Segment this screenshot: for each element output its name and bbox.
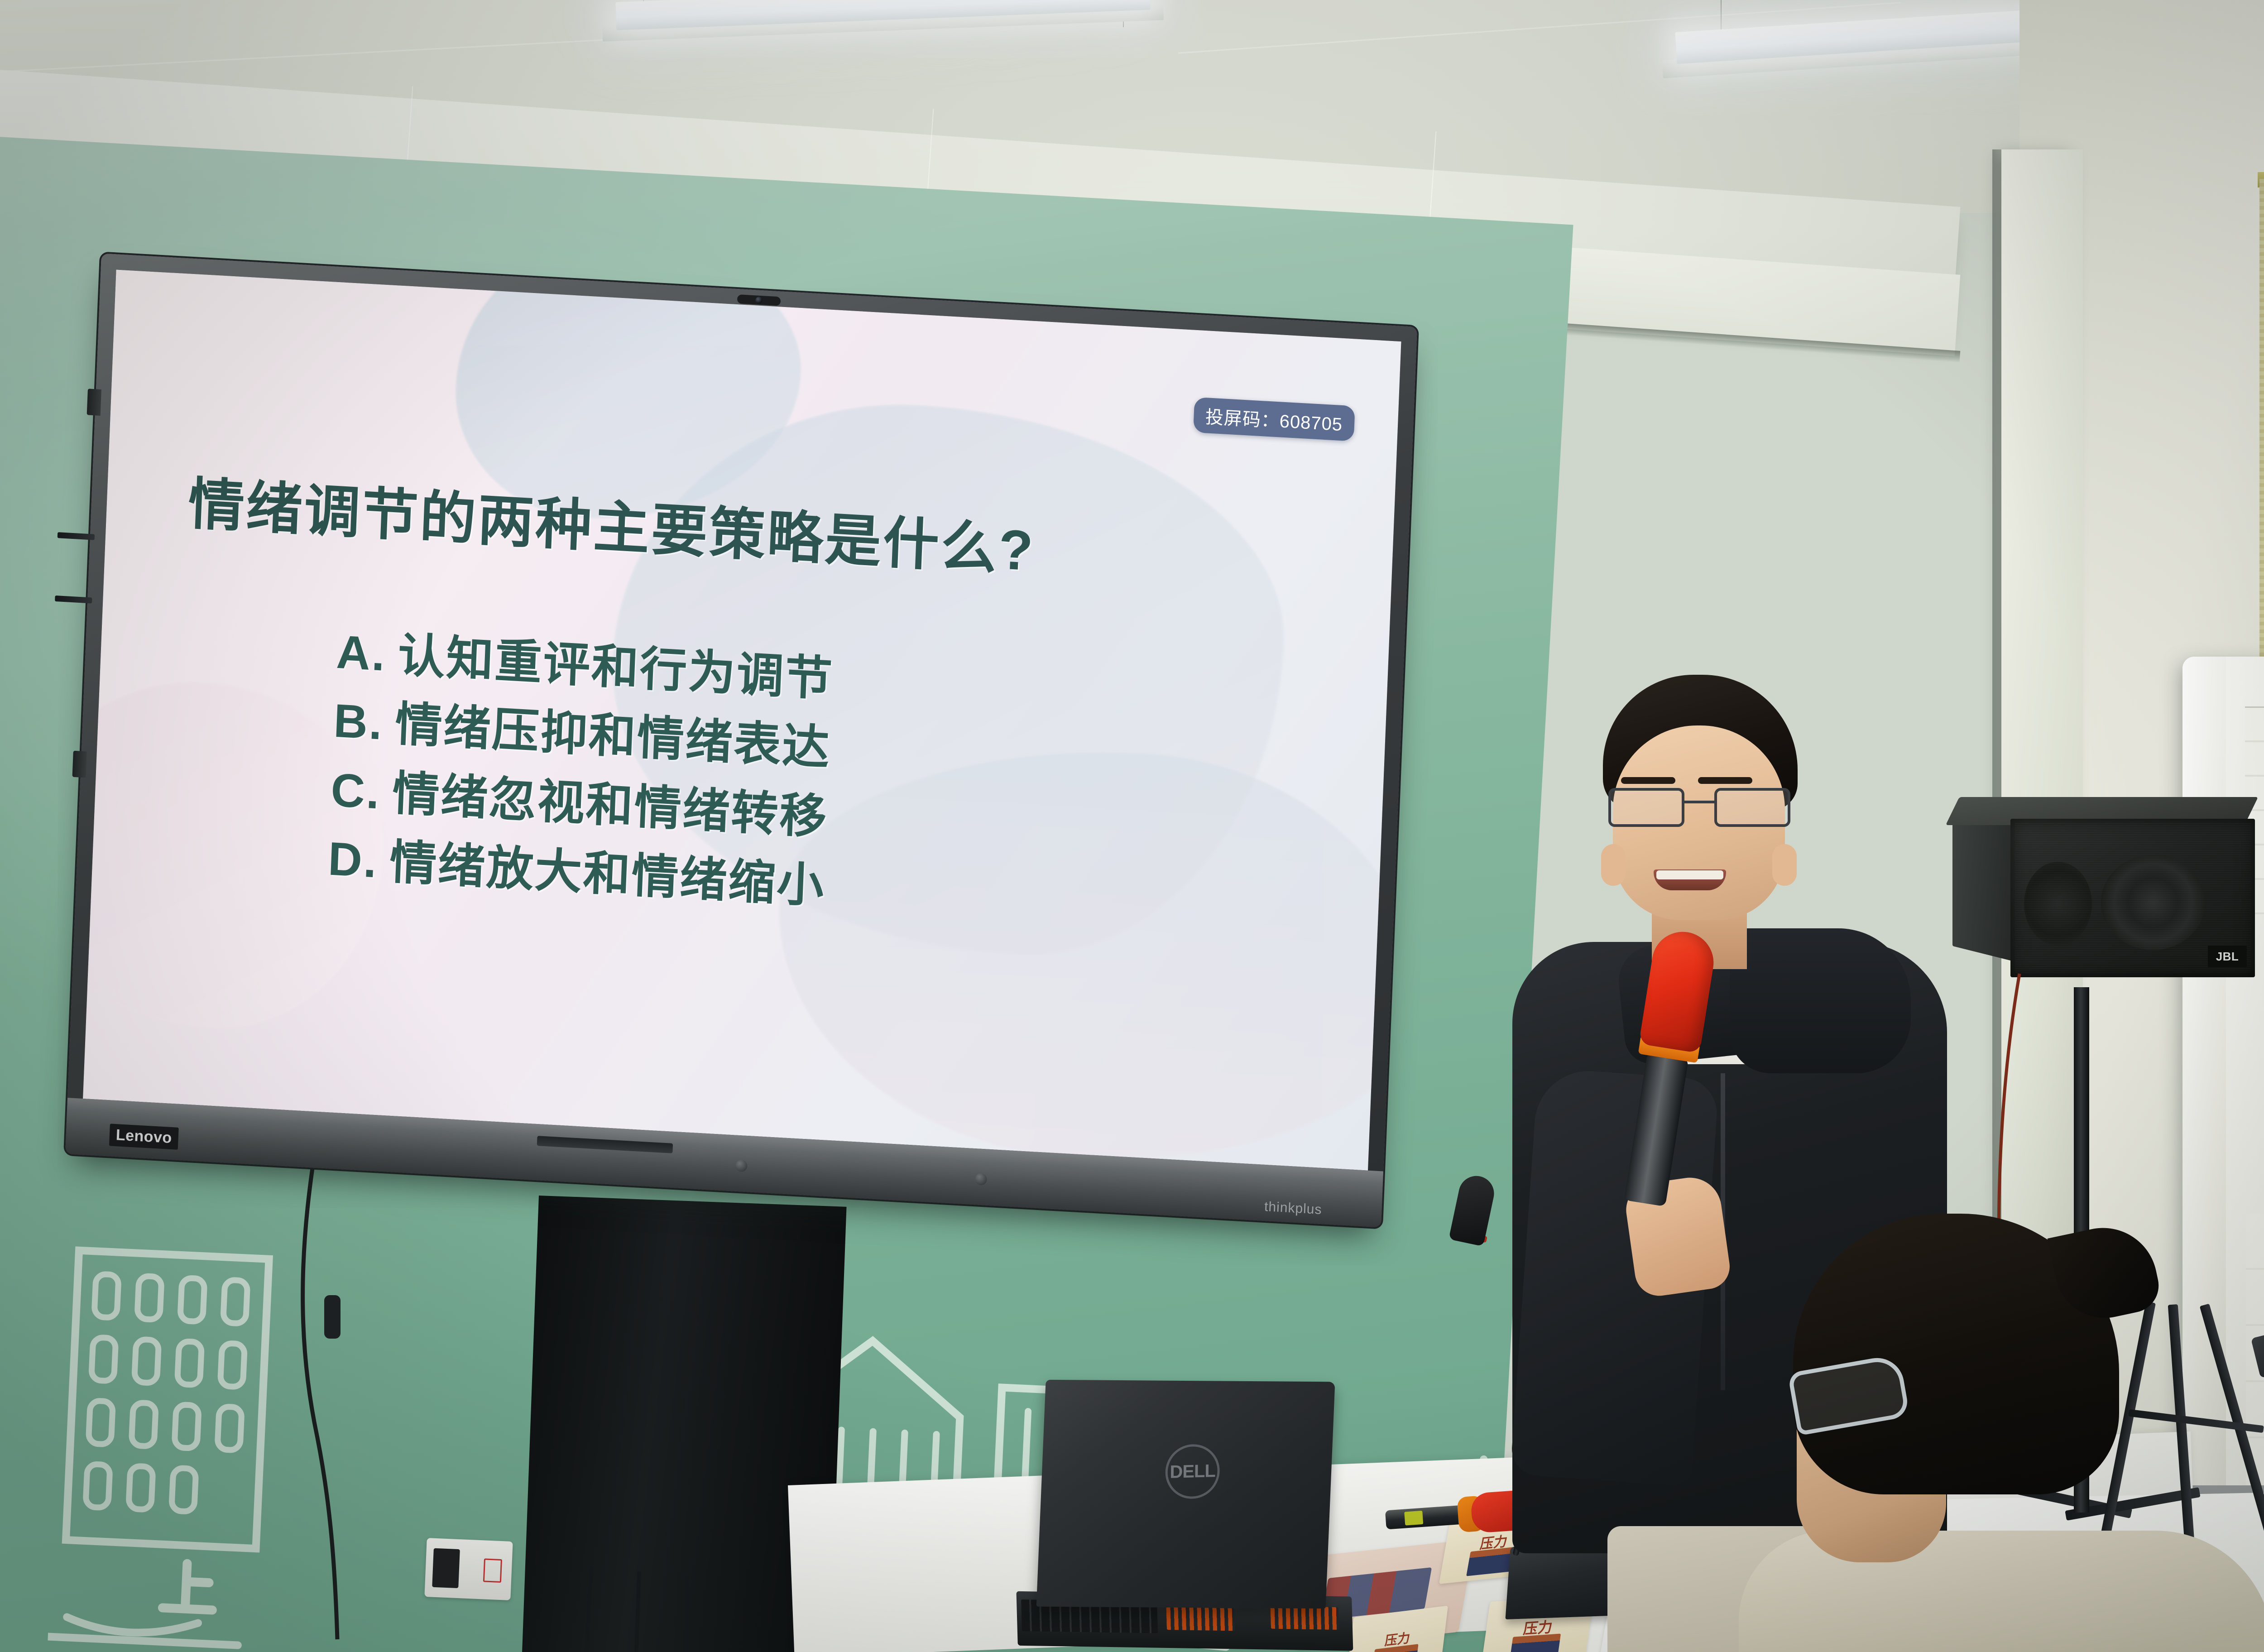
mouth	[1654, 869, 1726, 890]
glasses	[1608, 788, 1791, 830]
speaker-front-grill: JBL	[2010, 819, 2255, 977]
microphone-body	[1385, 1505, 1467, 1529]
jacket-hood	[1730, 928, 1911, 1073]
laptop-lid: DELL	[1036, 1380, 1335, 1609]
socket-plug-inserted	[432, 1548, 460, 1588]
student-shoulders	[1739, 1531, 2264, 1652]
home-button[interactable]	[975, 1173, 987, 1185]
classroom-scene: 投屏码：608705 情绪调节的两种主要策略是什么? A. 认知重评和行为调节 …	[0, 0, 2264, 1652]
laptop-vent	[1166, 1607, 1235, 1631]
thinkplus-logo: thinkplus	[1264, 1199, 1323, 1218]
glasses-bridge	[1684, 801, 1714, 803]
slide-options-list: A. 认知重评和行为调节 B. 情绪压抑和情绪表达 C. 情绪忽视和情绪转移 D…	[326, 627, 1287, 956]
microphone-label-tag	[1404, 1511, 1423, 1526]
jbl-speaker: JBL	[1943, 797, 2260, 992]
microphone-body	[1624, 1052, 1688, 1206]
chin-sensor-slot	[537, 1136, 673, 1153]
wall-power-socket[interactable]	[424, 1538, 513, 1600]
stylus-hook[interactable]	[72, 751, 87, 778]
jbl-logo: JBL	[2208, 946, 2247, 967]
eyebrow	[1698, 777, 1752, 784]
teeth	[1656, 870, 1723, 879]
option-b-text: 情绪压抑和情绪表达	[394, 699, 832, 774]
option-c-text: 情绪忽视和情绪转移	[391, 768, 829, 843]
window-blind[interactable]	[2259, 179, 2264, 663]
power-cable	[0, 1159, 634, 1652]
cast-code-badge: 投屏码：608705	[1193, 397, 1355, 442]
interactive-whiteboard[interactable]: 投屏码：608705 情绪调节的两种主要策略是什么? A. 认知重评和行为调节 …	[65, 254, 1417, 1228]
option-d-key: D.	[327, 833, 379, 887]
lenovo-logo: Lenovo	[109, 1124, 179, 1149]
dell-laptop[interactable]: DELL	[1011, 1377, 1344, 1652]
stylus-hook[interactable]	[87, 389, 101, 416]
glasses-lens	[1608, 788, 1684, 827]
presentation-slide: 投屏码：608705 情绪调节的两种主要策略是什么? A. 认知重评和行为调节 …	[83, 269, 1401, 1170]
ear	[1601, 844, 1626, 886]
glasses-lens	[1714, 788, 1790, 827]
option-b-key: B.	[333, 696, 384, 749]
socket-indicator	[483, 1558, 502, 1583]
speaker-side-panel	[1952, 810, 2014, 961]
eyebrow	[1621, 777, 1675, 784]
ear	[1772, 844, 1797, 886]
option-c-key: C.	[330, 764, 382, 818]
option-a-key: A.	[336, 627, 387, 680]
dell-logo: DELL	[1165, 1444, 1220, 1499]
laptop-vent	[1271, 1606, 1339, 1630]
power-button[interactable]	[735, 1160, 748, 1172]
seated-student	[1739, 1214, 2264, 1652]
option-d-text: 情绪放大和情绪缩小	[389, 837, 826, 912]
